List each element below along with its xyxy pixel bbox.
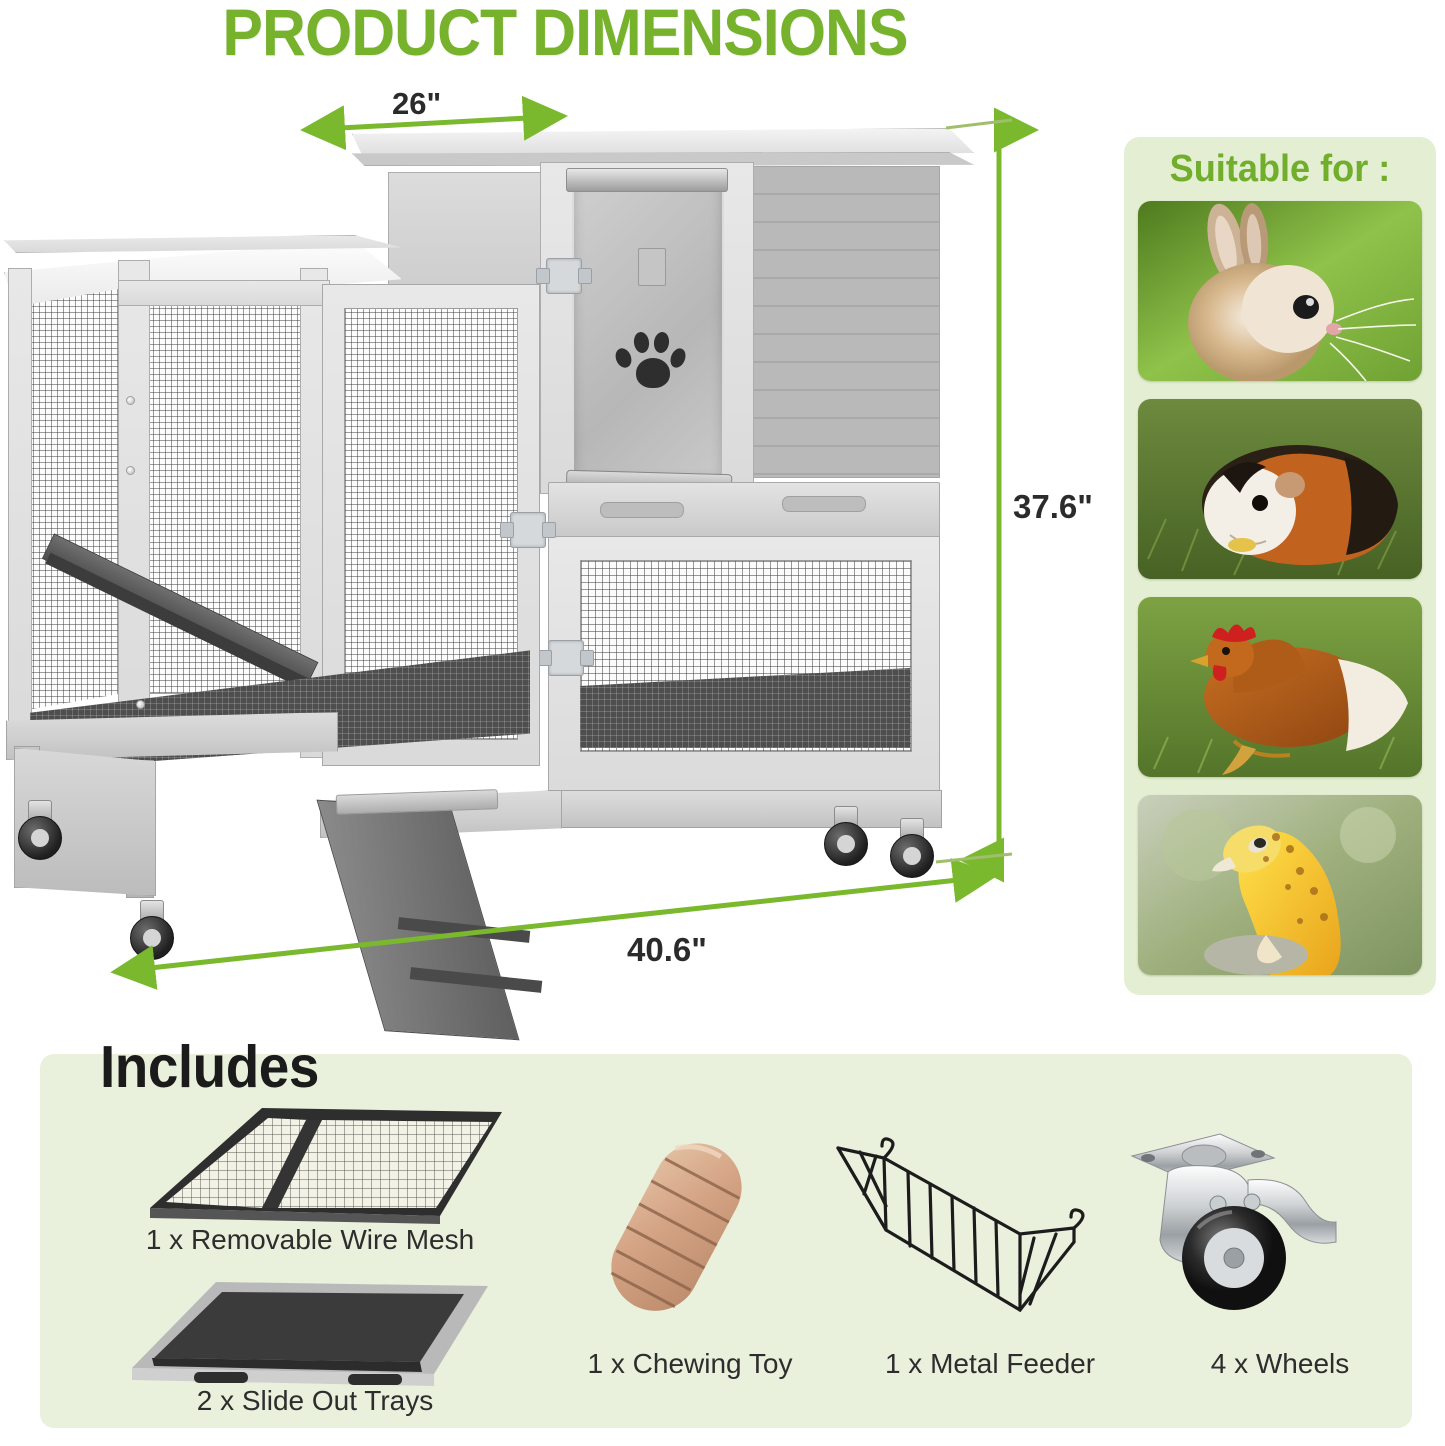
run-corner-post bbox=[118, 260, 150, 762]
dimension-height-label: 37.6" bbox=[1013, 488, 1093, 526]
drawer-handle-left[interactable] bbox=[600, 502, 684, 518]
includes-title: Includes bbox=[100, 1033, 319, 1101]
run-left-mesh bbox=[26, 288, 124, 710]
door-latch-plate bbox=[638, 248, 666, 286]
run-left-post bbox=[8, 268, 32, 740]
suitable-animal-guinea-pig bbox=[1138, 399, 1422, 579]
frame-screw-1 bbox=[126, 396, 135, 405]
rabbit-photo bbox=[1138, 201, 1422, 381]
dimension-depth-arrow bbox=[140, 868, 970, 978]
includes-caption-wire-mesh: 1 x Removable Wire Mesh bbox=[60, 1224, 560, 1256]
drawer-handle-right[interactable] bbox=[782, 496, 866, 512]
dimension-height-arrow bbox=[984, 120, 1014, 870]
caster-rear-left bbox=[18, 800, 60, 860]
frame-screw-2 bbox=[126, 466, 135, 475]
dimension-width-arrow bbox=[330, 108, 540, 138]
metal-feeder-icon bbox=[824, 1134, 1104, 1324]
includes-caption-chew-toy: 1 x Chewing Toy bbox=[520, 1348, 860, 1380]
paw-print-icon bbox=[614, 330, 686, 400]
includes-caption-wheels: 4 x Wheels bbox=[1130, 1348, 1430, 1380]
caster-wheel-icon bbox=[1124, 1122, 1344, 1328]
chicken-photo bbox=[1138, 597, 1422, 777]
door-top-bracket bbox=[566, 168, 728, 192]
hutch-door-hinge-bottom bbox=[548, 640, 584, 676]
dimension-height-tick-top bbox=[946, 118, 1016, 130]
slide-tray-icon bbox=[98, 1262, 508, 1394]
hutch-lower-base bbox=[548, 790, 942, 828]
suitable-for-title: Suitable for : bbox=[1132, 148, 1428, 191]
includes-caption-trays: 2 x Slide Out Trays bbox=[80, 1385, 550, 1417]
leopard-gecko-photo bbox=[1138, 795, 1422, 975]
suitable-animal-chicken bbox=[1138, 597, 1422, 777]
run-door-hinge bbox=[510, 512, 546, 548]
product-infographic: PRODUCT DIMENSIONS bbox=[0, 0, 1445, 1446]
suitable-animal-rabbit bbox=[1138, 201, 1422, 381]
suitable-for-panel: Suitable for : bbox=[1124, 137, 1436, 995]
hutch-door-hinge-top bbox=[546, 258, 582, 294]
hutch-side-slats bbox=[742, 166, 940, 478]
chew-toy-icon bbox=[586, 1128, 766, 1328]
includes-caption-feeder: 1 x Metal Feeder bbox=[820, 1348, 1160, 1380]
run-top-rail bbox=[118, 280, 330, 306]
dimension-height-tick-bottom bbox=[936, 850, 1016, 864]
guinea-pig-photo bbox=[1138, 399, 1422, 579]
caster-rear-right bbox=[824, 806, 862, 862]
suitable-animal-gecko bbox=[1138, 795, 1422, 975]
page-title: PRODUCT DIMENSIONS bbox=[45, 0, 1085, 70]
wire-mesh-icon bbox=[110, 1098, 510, 1226]
frame-screw-3 bbox=[136, 700, 145, 709]
